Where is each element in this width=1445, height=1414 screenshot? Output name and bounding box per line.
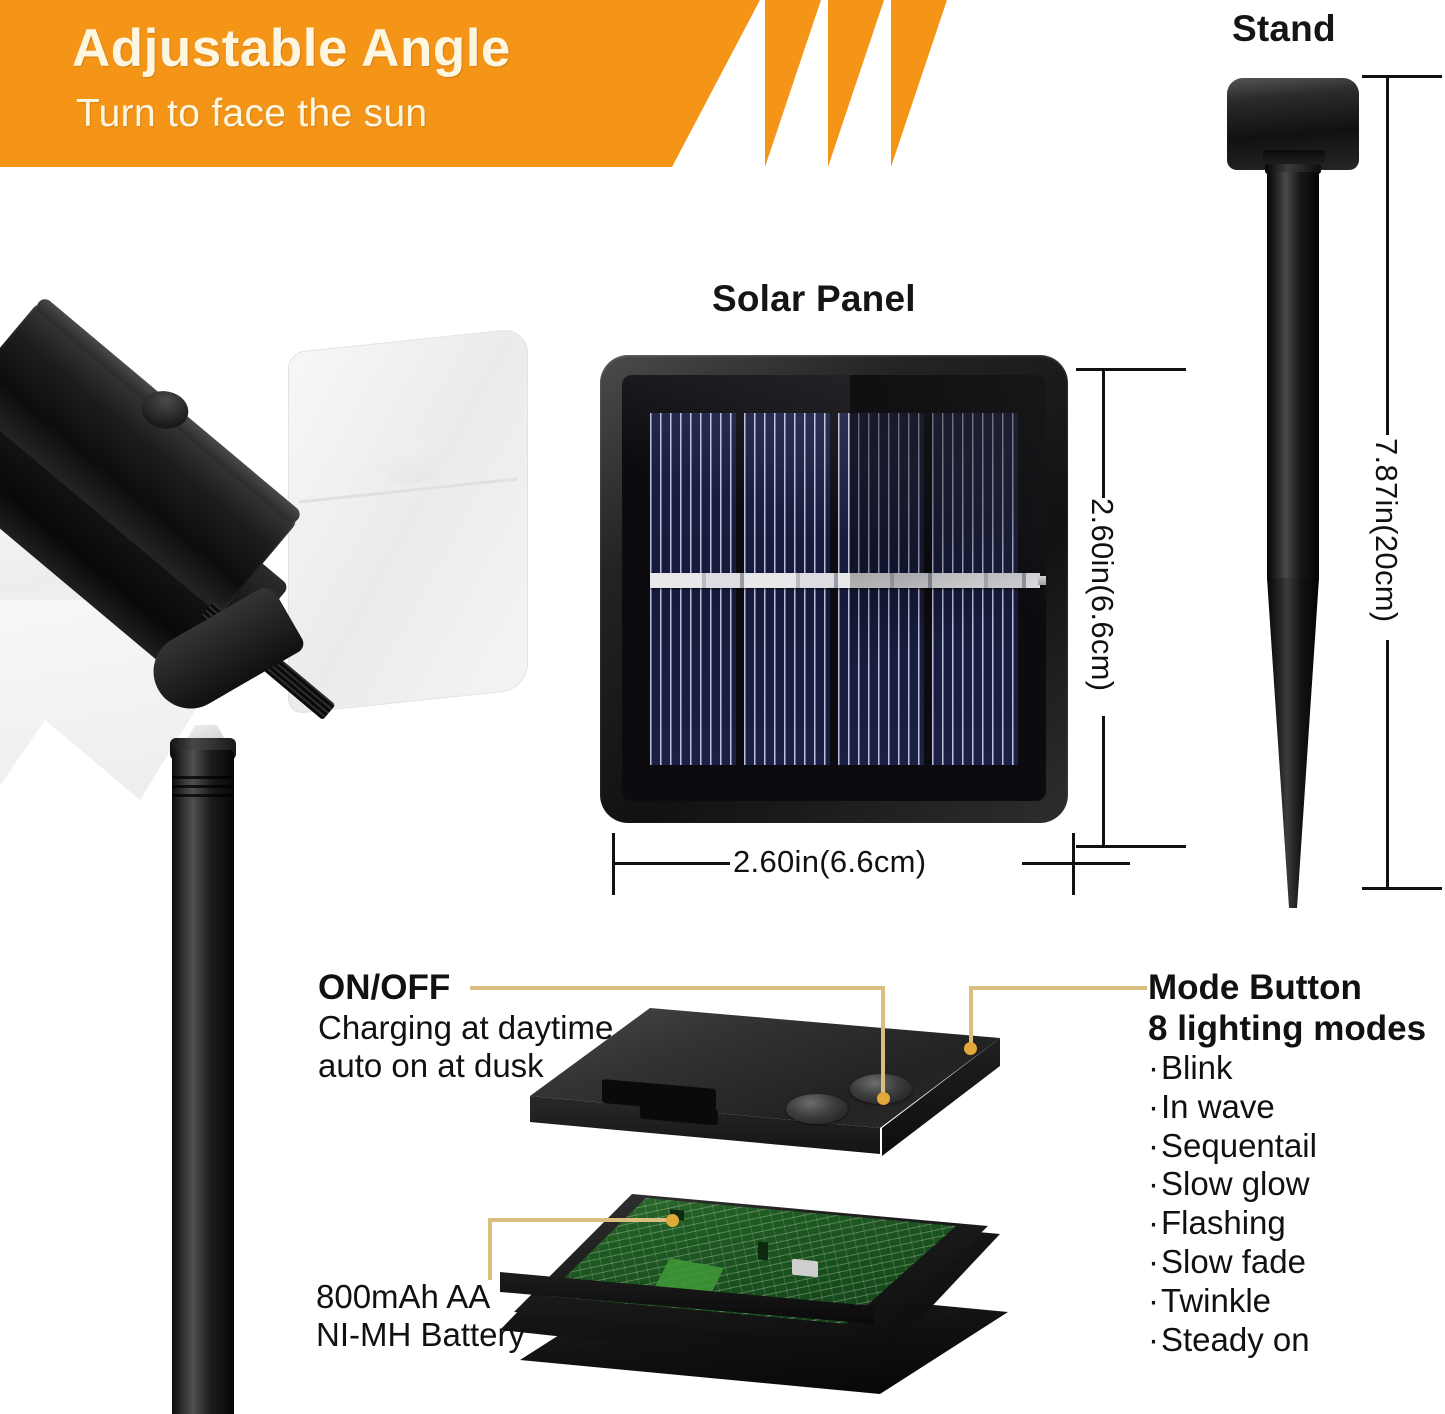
onoff-leader-vertical: [881, 986, 885, 1098]
dim-line-left: [612, 862, 730, 865]
onoff-leader-dot: [877, 1092, 890, 1105]
pcb-component: [758, 1241, 768, 1260]
stand-notch: [1291, 157, 1303, 161]
banner-stripe-2: [828, 0, 884, 167]
lighting-mode-item: Sequentail: [1148, 1127, 1426, 1166]
battery-leader-vertical: [488, 1218, 492, 1280]
lighting-modes-list: BlinkIn waveSequentailSlow glowFlashingS…: [1148, 1049, 1426, 1359]
onoff-button[interactable]: [786, 1094, 848, 1124]
battery-callout: 800mAh AA NI-MH Battery: [316, 1278, 525, 1355]
solar-panel-heading: Solar Panel: [712, 278, 916, 320]
banner-stripe-1: [765, 0, 821, 167]
lighting-mode-item: Flashing: [1148, 1204, 1426, 1243]
onoff-callout: ON/OFF Charging at daytime auto on at du…: [318, 968, 613, 1085]
solar-cells: [650, 413, 1018, 765]
lighting-mode-item: Slow glow: [1148, 1165, 1426, 1204]
battery-leader-horizontal: [488, 1218, 674, 1222]
solar-cell: [650, 413, 736, 765]
lighting-mode-item: In wave: [1148, 1088, 1426, 1127]
dim-cap-top: [1076, 368, 1186, 371]
battery-callout-line2: NI-MH Battery: [316, 1316, 525, 1354]
dim-line-upper: [1102, 368, 1105, 498]
pcb-chip: [792, 1259, 818, 1278]
stand-heading: Stand: [1232, 8, 1336, 50]
dim-line-upper: [1386, 75, 1389, 435]
mode-leader-dot: [964, 1042, 977, 1055]
banner-subtitle: Turn to face the sun: [76, 92, 427, 136]
lighting-mode-item: Blink: [1148, 1049, 1426, 1088]
onoff-callout-line2: auto on at dusk: [318, 1047, 613, 1085]
dim-line-lower: [1102, 716, 1105, 848]
banner: Adjustable Angle Turn to face the sun: [0, 0, 900, 170]
solar-panel-frame: [600, 355, 1068, 823]
dim-cap-top: [1362, 75, 1442, 78]
dim-cap-right: [1072, 833, 1075, 895]
adjustable-lamp-illustration: [0, 240, 520, 1414]
solar-cell: [744, 413, 830, 765]
banner-title: Adjustable Angle: [72, 18, 511, 79]
stand-spike-tip: [1267, 578, 1319, 908]
banner-stripe-3: [891, 0, 947, 167]
battery-leader-dot: [666, 1214, 679, 1227]
stand-shaft: [1267, 172, 1319, 582]
dim-cap-bottom: [1076, 845, 1186, 848]
solar-cell: [932, 413, 1018, 765]
lamp-post: [172, 750, 234, 1414]
post-ring-1: [172, 776, 234, 779]
battery-callout-line1: 800mAh AA: [316, 1278, 525, 1316]
mode-leader-vertical: [969, 986, 973, 1048]
lighting-mode-item: Steady on: [1148, 1321, 1426, 1360]
dim-cap-bottom: [1362, 887, 1442, 890]
panel-width-value: 2.60in(6.6cm): [733, 844, 926, 880]
solar-cell: [838, 413, 924, 765]
device-base-tray: [500, 1150, 1020, 1390]
solar-panel-glass: [622, 375, 1046, 801]
dim-line-right: [1022, 862, 1130, 865]
onoff-callout-title: ON/OFF: [318, 968, 613, 1009]
lighting-mode-item: Slow fade: [1148, 1243, 1426, 1282]
panel-height-value: 2.60in(6.6cm): [1084, 498, 1120, 691]
product-infographic: Adjustable Angle Turn to face the sun So…: [0, 0, 1445, 1414]
mode-leader-horizontal: [969, 986, 1147, 990]
solar-busbar: [650, 573, 1040, 588]
post-ring-2: [172, 785, 234, 788]
stand-head-bracket: [1227, 78, 1359, 170]
lighting-mode-item: Twinkle: [1148, 1282, 1426, 1321]
mode-callout: Mode Button 8 lighting modes BlinkIn wav…: [1148, 968, 1426, 1359]
onoff-callout-line1: Charging at daytime: [318, 1009, 613, 1047]
dim-line-lower: [1386, 640, 1389, 890]
post-ring-3: [172, 794, 234, 797]
mode-callout-title: Mode Button: [1148, 968, 1426, 1009]
stand-height-value: 7.87in(20cm): [1368, 438, 1404, 623]
mode-callout-subtitle: 8 lighting modes: [1148, 1009, 1426, 1050]
